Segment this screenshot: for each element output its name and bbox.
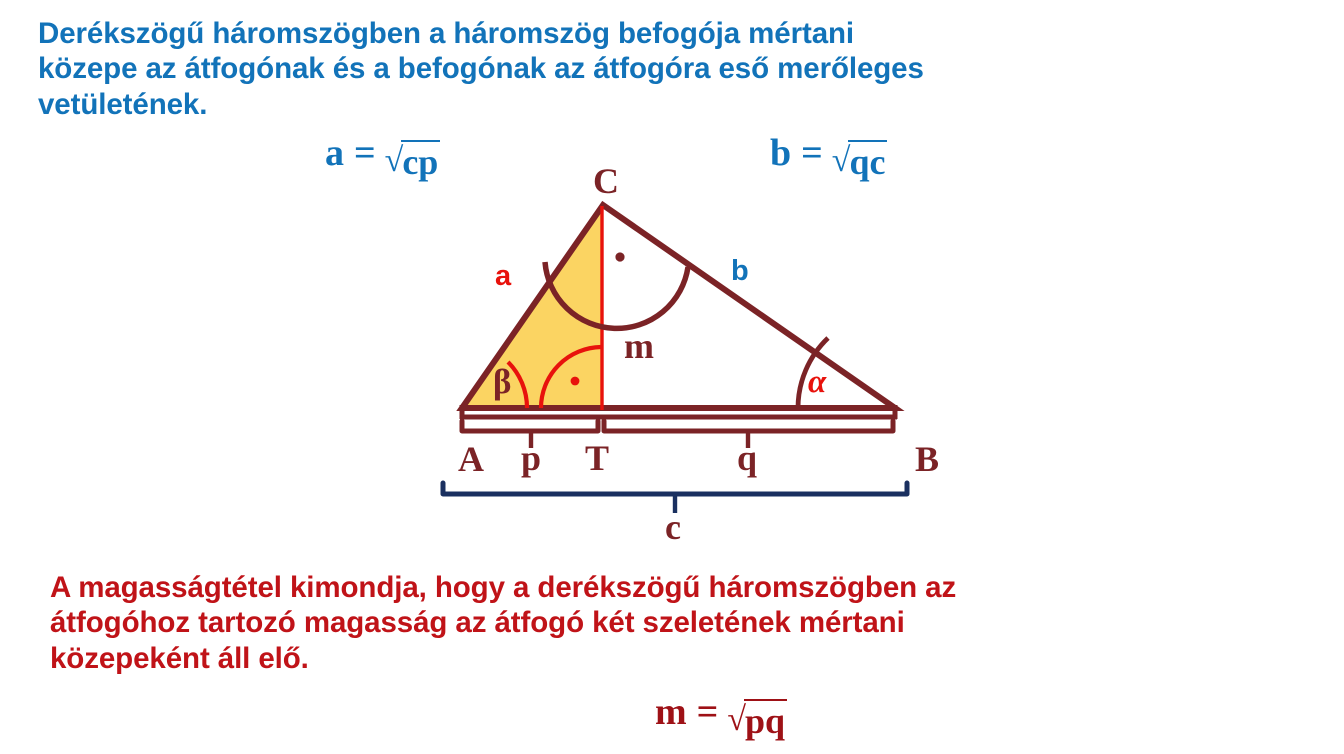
side-label-b: b (731, 257, 749, 286)
radical-sign-icon: √ (727, 703, 746, 743)
angle-label-alpha: α (808, 366, 826, 399)
right-angle-arc-at-c (545, 262, 688, 328)
formula-a-equals: = (354, 131, 376, 175)
segment-label-c: c (665, 509, 681, 545)
radical-sign-icon: √ (385, 144, 404, 184)
side-label-a: a (495, 262, 511, 291)
formula-b-radicand: qc (848, 140, 887, 180)
shaded-subtriangle-act (462, 205, 603, 408)
top-statement-text: Derékszögű háromszögben a háromszög befo… (38, 16, 1278, 122)
formula-b-equals: = (801, 131, 823, 175)
radical-pq: √ pq (727, 699, 787, 739)
right-angle-dot-at-t (571, 377, 580, 386)
formula-b: b = √ qc (770, 131, 887, 178)
formula-m: m = √ pq (655, 690, 787, 737)
radical-cp: √ cp (385, 140, 441, 180)
vertex-label-c: C (593, 163, 619, 199)
formula-a-radicand: cp (401, 140, 440, 180)
formula-m-lhs: m (655, 690, 687, 734)
right-angle-dot-at-c (615, 252, 624, 261)
brace-p (462, 421, 598, 431)
vertex-label-a: A (458, 441, 484, 477)
triangle-outline-abc (462, 205, 895, 408)
brace-c (443, 483, 907, 494)
side-label-m: m (624, 328, 654, 364)
formula-a-lhs: a (325, 131, 344, 175)
bottom-statement-text: A magasságtétel kimondja, hogy a deréksz… (50, 570, 1310, 676)
radical-qc: √ qc (832, 140, 888, 180)
right-angle-arc-at-t (541, 347, 601, 408)
formula-m-equals: = (697, 690, 719, 734)
formula-a: a = √ cp (325, 131, 440, 178)
radical-sign-icon: √ (832, 144, 851, 184)
angle-label-beta: β (493, 364, 511, 399)
vertex-label-t: T (585, 440, 609, 476)
formula-m-radicand: pq (744, 699, 787, 739)
segment-label-q: q (737, 440, 757, 476)
vertex-label-b: B (915, 441, 939, 477)
brace-q (604, 421, 893, 431)
segment-label-p: p (521, 440, 541, 476)
formula-b-lhs: b (770, 131, 791, 175)
